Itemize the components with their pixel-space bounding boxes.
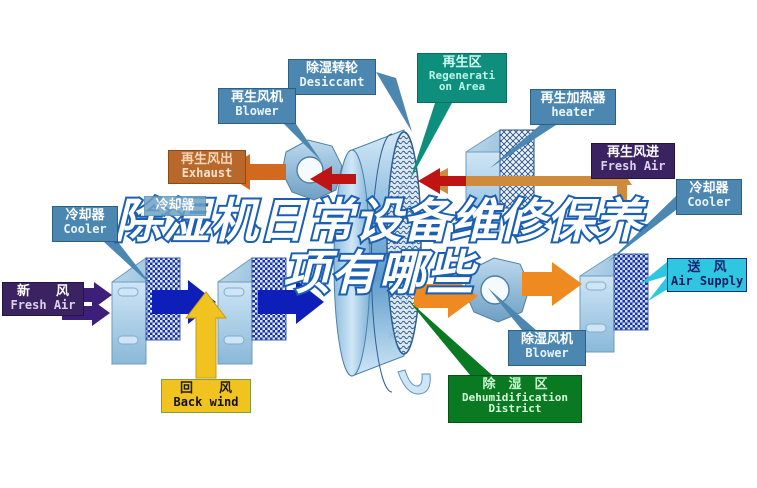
callout-label-cn: 再生加热器: [534, 92, 612, 106]
callout-label-cn: 再生区: [421, 56, 503, 70]
callout-air-supply: 送 风Air Supply: [667, 258, 747, 292]
callout-label-cn: 除湿转轮: [292, 62, 372, 76]
callout-label-en: Fresh Air: [6, 299, 80, 312]
callout-regen-heater: 再生加热器heater: [530, 89, 616, 125]
callout-cooler-ghost: 冷却器: [144, 196, 206, 216]
callout-label-cn: 除湿风机: [512, 333, 582, 347]
callout-dehumidify-blower: 除湿风机Blower: [508, 330, 586, 366]
callout-label-cn: 再生风出: [172, 153, 242, 167]
equipment-layer: x1: [0, 0, 757, 488]
callout-label-en: Blower: [512, 347, 582, 360]
callout-label-cn: 冷却器: [56, 209, 114, 223]
callout-exhaust: 再生风出Exhaust: [168, 150, 246, 184]
callout-label-cn: 冷却器: [148, 199, 202, 213]
callout-label-en: Blower: [222, 105, 292, 118]
dehumid-blower-unit: [464, 258, 530, 322]
diagram-canvas: x1: [0, 0, 757, 488]
callout-cooler-left: 冷却器Cooler: [52, 206, 118, 242]
desiccant-rotor: x1: [334, 130, 430, 394]
callout-label-cn: 再生风进: [595, 146, 671, 160]
callout-back-wind: 回 风Back wind: [161, 379, 251, 413]
callout-label-en: Desiccant: [292, 76, 372, 89]
callout-label-en: heater: [534, 106, 612, 119]
callout-cooler-right: 冷却器Cooler: [676, 179, 742, 215]
callout-desiccant-wheel: 除湿转轮Desiccant: [288, 59, 376, 95]
callout-label-cn: 送 风: [671, 261, 743, 275]
callout-fresh-air: 新 风Fresh Air: [2, 282, 84, 316]
callout-label-en: Dehumidification District: [452, 392, 578, 415]
callout-label-cn: 再生风机: [222, 91, 292, 105]
callout-label-cn: 新 风: [6, 285, 80, 299]
callout-label-en: Regenerati on Area: [421, 70, 503, 93]
callout-label-cn: 除 湿 区: [452, 378, 578, 392]
callout-regen-blower: 再生风机Blower: [218, 88, 296, 124]
callout-label-cn: 冷却器: [680, 182, 738, 196]
callout-dehumidify-area: 除 湿 区Dehumidification District: [448, 375, 582, 423]
callout-label-en: Air Supply: [671, 275, 743, 288]
callout-label-en: Exhaust: [172, 167, 242, 180]
callout-label-en: Cooler: [680, 196, 738, 209]
svg-text:x1: x1: [388, 328, 402, 341]
callout-label-en: Back wind: [165, 396, 247, 409]
callout-label-cn: 回 风: [165, 382, 247, 396]
callout-label-en: Fresh Air: [595, 160, 671, 173]
callout-label-en: Cooler: [56, 223, 114, 236]
supply-coil: [580, 254, 648, 352]
arrow-blower-out: [522, 262, 582, 306]
callout-regen-fresh-air: 再生风进Fresh Air: [591, 143, 675, 179]
callout-regeneration-area: 再生区Regenerati on Area: [417, 53, 507, 103]
